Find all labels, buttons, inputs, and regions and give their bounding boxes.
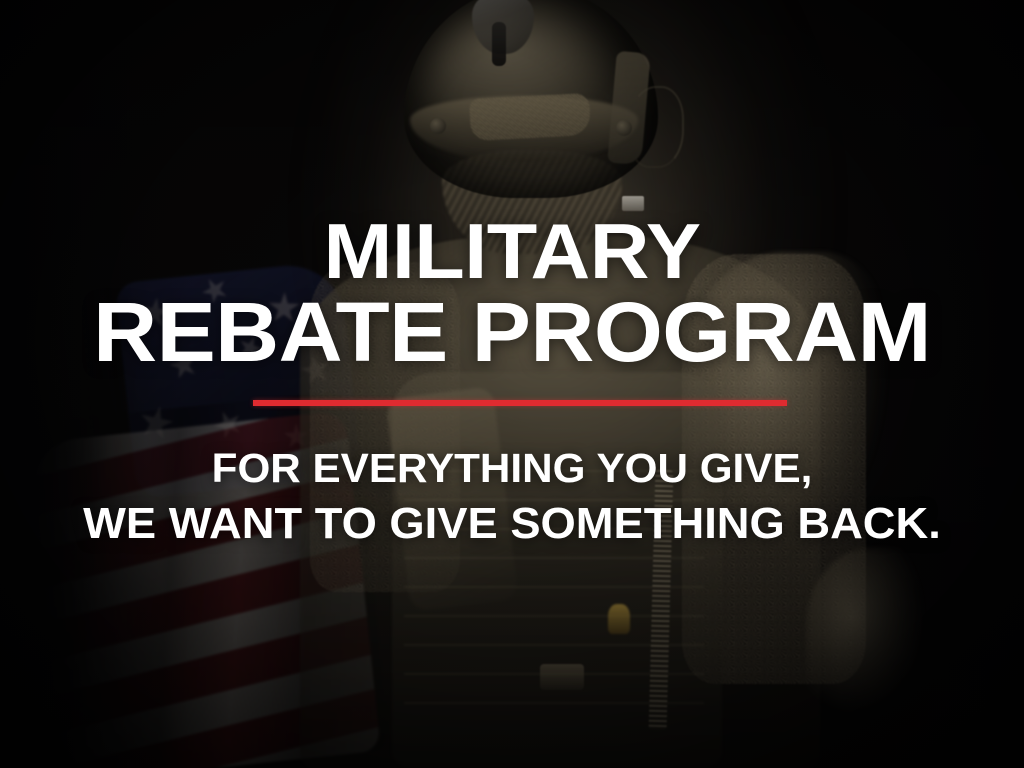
helmet-knob: [430, 118, 446, 134]
background-photo: [0, 0, 1024, 768]
soldier-forearm: [806, 548, 946, 768]
flag-star: [197, 273, 232, 308]
flag-star: [138, 296, 172, 330]
vest-buckle: [540, 664, 584, 690]
helmet-velcro-patch: [469, 93, 591, 141]
flag-star: [235, 333, 266, 364]
comms-cable: [628, 86, 684, 168]
helmet-id-tab: [622, 196, 644, 211]
night-vision-arm: [492, 22, 506, 66]
vest-brass-accent: [608, 604, 630, 634]
flag-star: [268, 292, 301, 325]
flag-star: [166, 348, 201, 383]
poster-canvas: MILITARY REBATE PROGRAM FOR EVERYTHING Y…: [0, 0, 1024, 768]
